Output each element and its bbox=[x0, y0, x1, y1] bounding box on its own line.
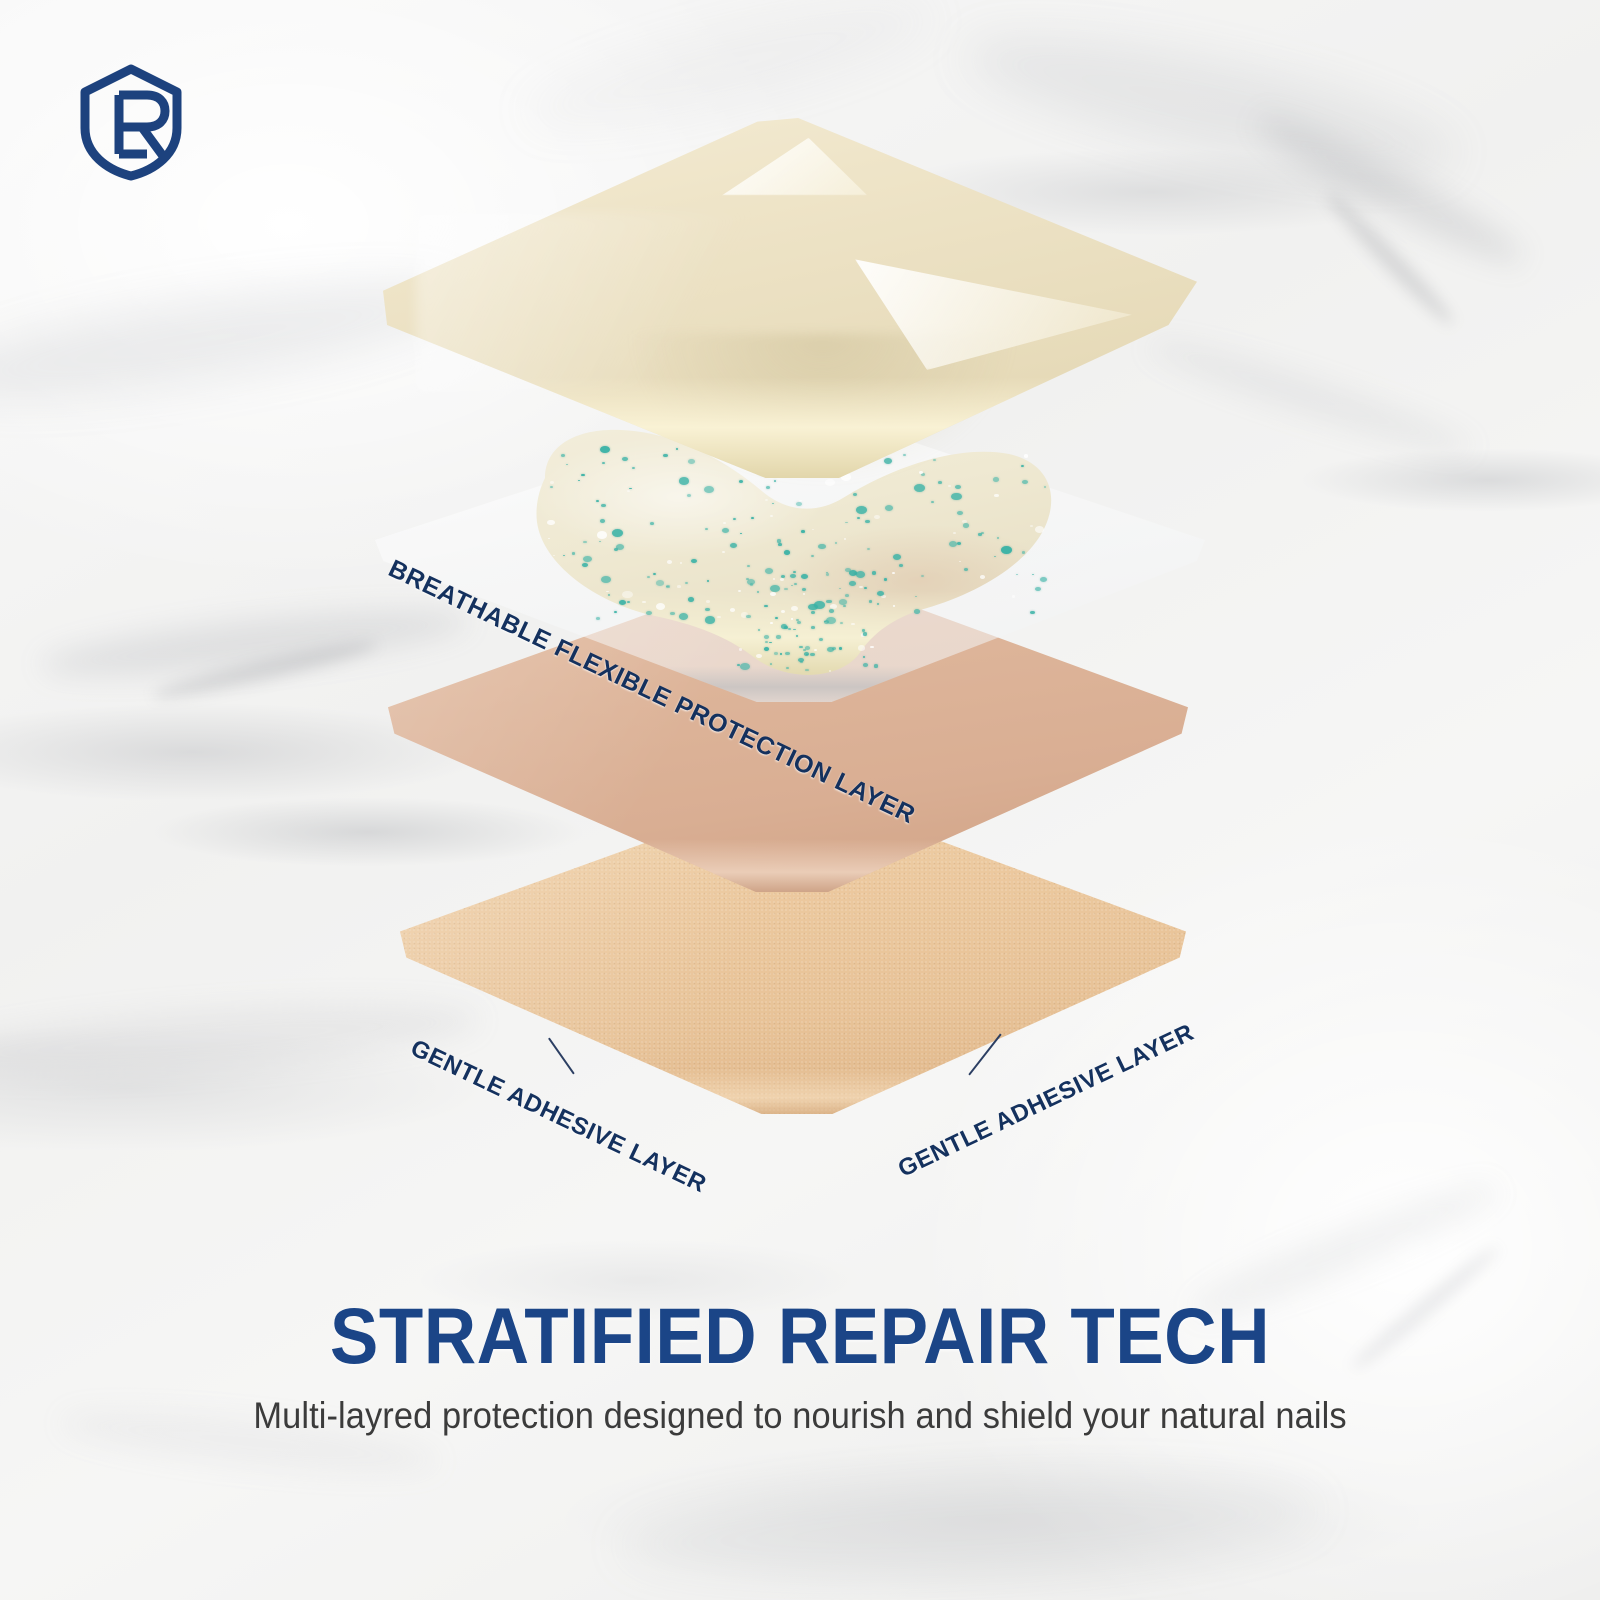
gel-speckle bbox=[840, 622, 843, 624]
gel-speckle bbox=[872, 571, 877, 574]
gel-speckle bbox=[914, 609, 920, 614]
gel-speckle bbox=[814, 601, 825, 609]
gel-speckle bbox=[997, 537, 999, 539]
gel-speckle bbox=[548, 538, 550, 540]
gel-speckle bbox=[547, 520, 554, 525]
gel-speckle bbox=[766, 486, 770, 489]
gel-speckle bbox=[790, 574, 796, 578]
gel-speckle bbox=[550, 481, 554, 484]
gel-speckle bbox=[773, 578, 776, 580]
gel-speckle bbox=[622, 591, 632, 598]
gel-speckle bbox=[722, 528, 729, 533]
gel-speckle bbox=[826, 600, 832, 604]
gel-speckle bbox=[957, 542, 961, 545]
gel-speckle bbox=[962, 520, 967, 524]
gel-speckle bbox=[839, 647, 843, 650]
gel-speckle bbox=[583, 541, 587, 544]
gel-speckle bbox=[680, 562, 683, 564]
gel-speckle bbox=[811, 611, 815, 614]
gel-speckle bbox=[730, 543, 737, 548]
gel-speckle bbox=[704, 486, 714, 493]
gel-speckle bbox=[764, 635, 770, 639]
page-title: STRATIFIED REPAIR TECH bbox=[64, 1296, 1536, 1377]
gel-speckle bbox=[980, 575, 985, 579]
gel-speckle bbox=[784, 588, 787, 590]
gel-speckle bbox=[851, 623, 855, 626]
gel-speckle bbox=[884, 578, 888, 581]
gel-speckle bbox=[801, 574, 808, 579]
gel-speckle bbox=[805, 669, 808, 671]
gel-speckle bbox=[859, 586, 863, 589]
gel-speckle bbox=[705, 616, 715, 623]
gel-speckle bbox=[677, 585, 681, 588]
gel-speckle bbox=[963, 523, 969, 528]
gel-speckle bbox=[670, 612, 675, 616]
gel-speckle bbox=[893, 605, 895, 607]
gel-speckle bbox=[647, 576, 650, 578]
gel-speckle bbox=[705, 608, 710, 611]
gel-speckle bbox=[819, 638, 823, 641]
gel-speckle bbox=[1030, 611, 1035, 615]
gel-speckle bbox=[845, 594, 850, 597]
gel-speckle bbox=[811, 626, 815, 629]
gel-speckle bbox=[770, 585, 780, 592]
gel-speckle bbox=[781, 610, 785, 613]
page-subtitle: Multi-layred protection designed to nour… bbox=[56, 1395, 1544, 1437]
top-film-edge bbox=[383, 118, 1197, 478]
gel-speckle bbox=[612, 529, 623, 537]
gel-speckle bbox=[921, 575, 924, 577]
gel-speckle bbox=[780, 653, 782, 655]
gel-speckle bbox=[845, 522, 847, 524]
gel-speckle bbox=[806, 654, 808, 656]
gel-speckle bbox=[758, 629, 761, 631]
gel-speckle bbox=[667, 560, 672, 564]
gel-speckle bbox=[953, 532, 956, 534]
gel-speckle bbox=[835, 542, 838, 544]
gel-speckle bbox=[978, 533, 981, 535]
gel-speckle bbox=[793, 571, 796, 573]
gel-speckle bbox=[747, 565, 750, 567]
gel-speckle bbox=[802, 588, 806, 591]
gel-speckle bbox=[785, 652, 791, 656]
gel-speckle bbox=[893, 554, 901, 560]
gel-speckle bbox=[856, 506, 867, 514]
gel-speckle bbox=[812, 529, 814, 531]
gel-speckle bbox=[756, 654, 762, 658]
gel-speckle bbox=[775, 617, 778, 619]
gel-speckle bbox=[685, 582, 688, 584]
gel-speckle bbox=[801, 530, 805, 533]
gel-speckle bbox=[794, 583, 797, 585]
gel-speckle bbox=[914, 484, 925, 492]
gel-speckle bbox=[793, 629, 795, 631]
product-layer-stack bbox=[0, 0, 1600, 1280]
gel-speckle bbox=[1032, 574, 1034, 576]
gel-speckle bbox=[765, 641, 768, 643]
gel-speckle bbox=[810, 653, 815, 657]
gel-speckle bbox=[955, 485, 961, 490]
gel-speckle bbox=[867, 548, 870, 550]
gel-speckle bbox=[614, 611, 617, 613]
gel-speckle bbox=[582, 563, 588, 567]
gel-speckle bbox=[1035, 587, 1041, 592]
gel-speckle bbox=[964, 568, 968, 571]
gel-speckle bbox=[885, 505, 893, 511]
gel-speckle bbox=[1022, 551, 1025, 553]
gel-speckle bbox=[730, 608, 735, 612]
gel-speckle bbox=[705, 528, 708, 530]
gel-speckle bbox=[606, 591, 609, 593]
infographic-canvas: BREATHABLE FLEXIBLE PROTECTION LAYER GEN… bbox=[0, 0, 1600, 1600]
gel-speckle bbox=[597, 531, 608, 539]
gel-speckle bbox=[874, 664, 879, 667]
gel-speckle bbox=[865, 520, 870, 524]
gel-speckle bbox=[722, 551, 725, 553]
gel-speckle bbox=[777, 539, 782, 542]
gel-speckle bbox=[706, 600, 710, 603]
gel-speckle bbox=[656, 603, 665, 610]
gel-speckle bbox=[765, 499, 768, 501]
gel-speckle bbox=[957, 511, 964, 516]
gel-speckle bbox=[614, 548, 618, 551]
gel-speckle bbox=[1040, 577, 1047, 582]
gel-speckle bbox=[827, 647, 834, 652]
gel-speckle bbox=[858, 645, 866, 650]
gel-speckle bbox=[772, 503, 774, 505]
gel-speckle bbox=[863, 632, 868, 635]
gel-speckle bbox=[843, 605, 846, 607]
gel-speckle bbox=[599, 541, 601, 543]
gel-speckle bbox=[994, 556, 996, 558]
gel-speckle bbox=[733, 518, 736, 520]
gel-speckle bbox=[764, 605, 768, 608]
gel-speckle bbox=[1044, 486, 1047, 488]
gel-speckle bbox=[578, 480, 580, 482]
gel-speckle bbox=[829, 609, 834, 613]
gel-speckle bbox=[770, 592, 776, 596]
gel-speckle bbox=[687, 494, 691, 497]
gel-speckle bbox=[915, 596, 917, 598]
gel-speckle bbox=[899, 564, 903, 567]
gel-speckle bbox=[796, 502, 802, 506]
gel-speckle bbox=[857, 517, 860, 519]
gel-speckle bbox=[870, 646, 874, 649]
gel-speckle bbox=[826, 573, 829, 575]
gel-speckle bbox=[863, 656, 866, 658]
gel-speckle bbox=[765, 568, 773, 574]
gel-speckle bbox=[892, 572, 895, 574]
gel-speckle bbox=[862, 629, 865, 631]
gel-speckle bbox=[691, 559, 697, 563]
gel-speckle bbox=[869, 600, 873, 603]
gel-speckle bbox=[1022, 480, 1028, 484]
gel-speckle bbox=[791, 606, 798, 611]
gel-speckle bbox=[746, 615, 751, 619]
gel-speckle bbox=[653, 573, 656, 575]
gel-speckle bbox=[829, 670, 832, 672]
gel-speckle bbox=[959, 561, 961, 563]
gel-speckle bbox=[769, 642, 772, 644]
gel-speckle bbox=[757, 591, 759, 593]
gel-speckle bbox=[800, 661, 803, 663]
gel-speckle bbox=[799, 646, 803, 649]
gel-speckle bbox=[780, 578, 784, 581]
gel-speckle bbox=[627, 601, 630, 603]
gel-speckle bbox=[805, 646, 811, 650]
gel-speckle bbox=[786, 667, 789, 669]
gel-speckle bbox=[600, 519, 606, 523]
gel-speckle bbox=[853, 493, 857, 496]
gel-speckle bbox=[740, 533, 742, 535]
gel-speckle bbox=[563, 555, 565, 557]
gel-speckle bbox=[583, 556, 592, 562]
gel-speckle bbox=[788, 628, 791, 630]
gel-speckle bbox=[738, 590, 741, 592]
gel-speckle bbox=[784, 550, 791, 555]
gel-speckle bbox=[845, 568, 851, 572]
gel-speckle bbox=[1035, 526, 1045, 533]
gel-speckle bbox=[839, 588, 841, 590]
gel-speckle bbox=[778, 543, 782, 546]
gel-speckle bbox=[679, 613, 688, 620]
gel-speckle bbox=[791, 618, 793, 620]
gel-speckle bbox=[1001, 546, 1012, 554]
gel-speckle bbox=[844, 538, 846, 540]
gel-speckle bbox=[596, 500, 599, 502]
gel-speckle bbox=[826, 617, 836, 624]
gel-speckle bbox=[629, 488, 631, 490]
gel-speckle bbox=[740, 663, 751, 671]
gel-speckle bbox=[717, 616, 721, 619]
gel-speckle bbox=[642, 601, 646, 604]
gel-speckle bbox=[601, 504, 606, 507]
gel-speckle bbox=[627, 490, 630, 492]
gel-speckle bbox=[814, 649, 817, 651]
gel-speckle bbox=[811, 555, 814, 557]
gel-speckle bbox=[553, 555, 555, 557]
gel-speckle bbox=[994, 494, 999, 497]
gel-speckle bbox=[770, 515, 773, 518]
gel-speckle bbox=[596, 617, 600, 620]
gel-speckle bbox=[770, 622, 773, 624]
gel-speckle bbox=[646, 611, 652, 615]
gel-speckle bbox=[1016, 574, 1018, 576]
layer-top-film bbox=[383, 118, 1197, 478]
gel-speckle bbox=[856, 571, 865, 578]
gel-speckle bbox=[656, 580, 664, 586]
gel-speckle bbox=[723, 522, 726, 524]
gel-speckle bbox=[863, 663, 868, 667]
gel-speckle bbox=[601, 576, 611, 583]
gel-speckle bbox=[688, 597, 694, 601]
gel-speckle bbox=[797, 621, 801, 624]
gel-speckle bbox=[608, 594, 610, 596]
gel-speckle bbox=[791, 585, 793, 587]
gel-speckle bbox=[877, 603, 879, 605]
gel-speckle bbox=[770, 663, 772, 665]
gel-speckle bbox=[1030, 525, 1033, 527]
gel-speckle bbox=[1012, 595, 1016, 598]
gel-speckle bbox=[781, 624, 787, 629]
gel-speckle bbox=[572, 552, 575, 555]
gel-speckle bbox=[864, 587, 867, 589]
gel-speckle bbox=[650, 522, 654, 525]
gel-speckle bbox=[931, 501, 934, 503]
gel-speckle bbox=[849, 581, 856, 586]
gel-speckle bbox=[751, 517, 754, 519]
gel-speckle bbox=[776, 635, 781, 638]
gel-speckle bbox=[874, 515, 880, 519]
footer-text-block: STRATIFIED REPAIR TECH Multi-layred prot… bbox=[0, 1296, 1600, 1437]
gel-speckle bbox=[747, 579, 755, 585]
gel-speckle bbox=[619, 600, 627, 606]
gel-speckle bbox=[803, 593, 806, 595]
gel-speckle bbox=[951, 493, 962, 501]
gel-speckle bbox=[764, 647, 770, 651]
gel-speckle bbox=[774, 652, 778, 655]
gel-speckle bbox=[707, 580, 710, 582]
gel-speckle bbox=[818, 544, 826, 549]
gel-speckle bbox=[796, 635, 798, 637]
gel-speckle bbox=[550, 486, 553, 488]
gel-speckle bbox=[739, 648, 743, 651]
gel-speckle bbox=[830, 604, 837, 609]
